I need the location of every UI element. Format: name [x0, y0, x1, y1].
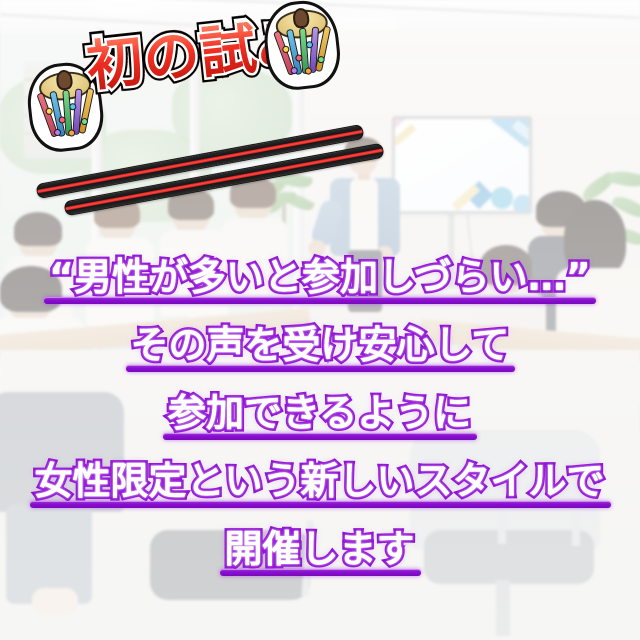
slide-shape [491, 187, 513, 209]
message-line-1: “男性が多いと参加しづらい…” “男性が多いと参加しづらい…” [49, 258, 591, 304]
message-line-1-underline [44, 297, 596, 304]
message-line-5: 開催します 開催します [225, 530, 416, 576]
message-line-3-underline [163, 433, 477, 440]
message-line-5-underline [220, 569, 421, 576]
message-line-4-underline [30, 501, 611, 508]
message-line-4: 女性限定という新しいスタイルで 女性限定という新しいスタイルで [35, 462, 606, 508]
message-line-1-fill: “男性が多いと参加しづらい…” [49, 258, 591, 296]
message-line-4-fill: 女性限定という新しいスタイルで [35, 462, 606, 500]
message-block: “男性が多いと参加しづらい…” “男性が多いと参加しづらい…” その声を受け安心… [0, 258, 640, 582]
wall-display [392, 116, 532, 214]
message-line-3-fill: 参加できるように [168, 394, 472, 432]
message-line-2-underline [126, 365, 515, 372]
message-line-3: 参加できるように 参加できるように [168, 394, 472, 440]
message-line-2: その声を受け安心して その声を受け安心して [131, 326, 510, 372]
kusudama-icon [268, 5, 336, 85]
message-line-2-fill: その声を受け安心して [131, 326, 510, 364]
ceiling-light [96, 2, 150, 8]
promo-graphic-canvas: 初の試み 初の試み 初の試み “男性が多いと参加しづらい…” “男性が多いと参加… [0, 0, 640, 640]
message-line-5-fill: 開催します [225, 530, 416, 568]
